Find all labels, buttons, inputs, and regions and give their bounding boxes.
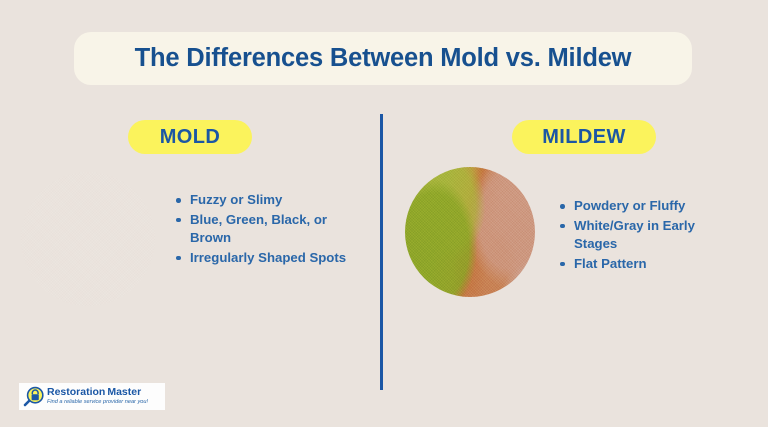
- list-item: Powdery or Fluffy: [558, 197, 738, 216]
- list-item: Blue, Green, Black, or Brown: [174, 211, 352, 248]
- badge-mold-label: MOLD: [160, 126, 220, 149]
- infographic-canvas: The Differences Between Mold vs. Mildew …: [0, 0, 768, 427]
- list-item: Flat Pattern: [558, 255, 738, 274]
- mildew-surface-photo: [405, 167, 535, 297]
- magnifying-glass-lock-icon: [21, 385, 46, 409]
- mold-bullet-list: Fuzzy or Slimy Blue, Green, Black, or Br…: [174, 191, 352, 268]
- badge-mildew-label: MILDEW: [542, 126, 626, 149]
- title-card: The Differences Between Mold vs. Mildew: [74, 32, 692, 85]
- list-item: White/Gray in Early Stages: [558, 217, 738, 254]
- list-item: Irregularly Shaped Spots: [174, 249, 352, 268]
- mildew-bullet-0: Powdery or Fluffy: [574, 198, 685, 213]
- badge-mildew: MILDEW: [512, 120, 656, 154]
- vertical-divider: [380, 114, 383, 390]
- mildew-bullet-list: Powdery or Fluffy White/Gray in Early St…: [558, 197, 738, 274]
- logo-text-block: RestorationMaster Find a reliable servic…: [47, 387, 148, 406]
- logo-tagline: Find a reliable service provider near yo…: [47, 398, 148, 406]
- mold-bullet-0: Fuzzy or Slimy: [190, 192, 282, 207]
- badge-mold: MOLD: [128, 120, 252, 154]
- mold-petri-dish-photo: [21, 172, 155, 306]
- logo-name: RestorationMaster: [47, 387, 148, 398]
- mildew-photo-texture: [405, 167, 535, 297]
- logo-name-part1: Restoration: [47, 386, 105, 398]
- mold-photo-texture: [21, 172, 155, 306]
- page-title: The Differences Between Mold vs. Mildew: [135, 44, 632, 73]
- mold-bullet-1: Blue, Green, Black, or Brown: [190, 212, 327, 246]
- mildew-bullet-2: Flat Pattern: [574, 256, 647, 271]
- logo-name-part2: Master: [107, 386, 141, 398]
- restorationmaster-logo[interactable]: RestorationMaster Find a reliable servic…: [19, 383, 165, 410]
- list-item: Fuzzy or Slimy: [174, 191, 352, 210]
- mold-bullet-2: Irregularly Shaped Spots: [190, 250, 346, 265]
- mildew-bullet-1: White/Gray in Early Stages: [574, 218, 695, 252]
